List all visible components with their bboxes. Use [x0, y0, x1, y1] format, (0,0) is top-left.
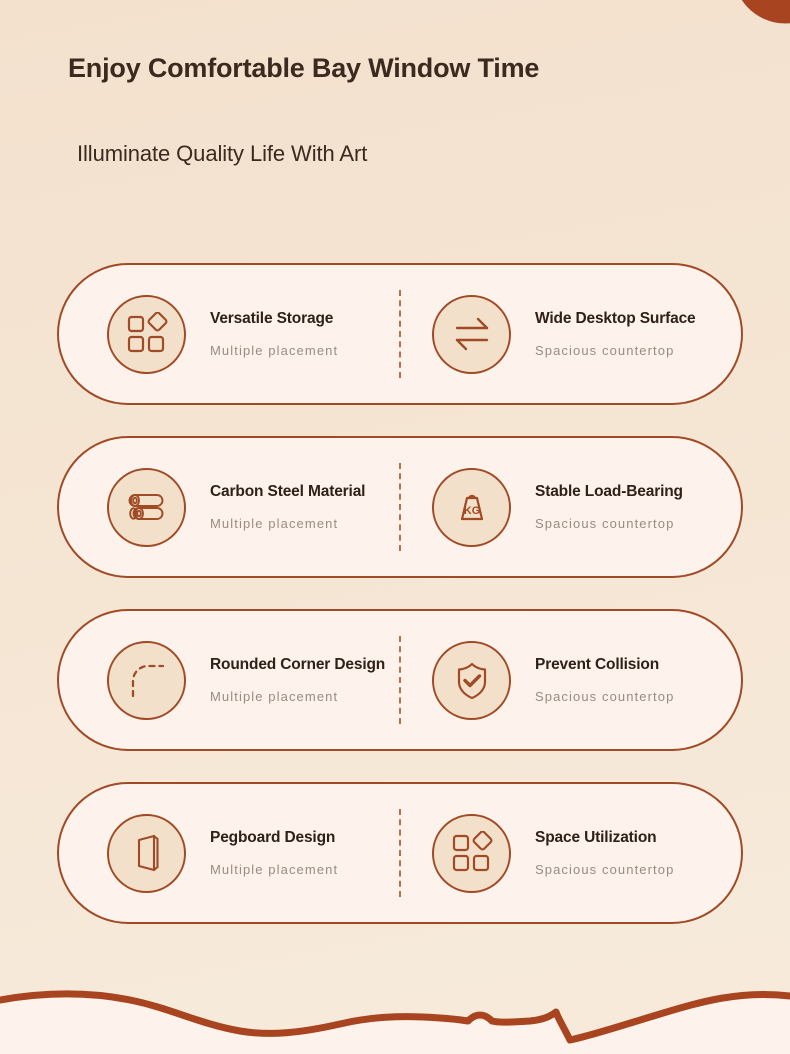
card-divider [399, 290, 401, 378]
heading-block: Enjoy Comfortable Bay Window Time Illumi… [68, 52, 539, 168]
feature-card[interactable]: Rounded Corner Design Multiple placement… [57, 609, 743, 751]
page-subtitle: Illuminate Quality Life With Art [77, 141, 539, 167]
feature-card[interactable]: Carbon Steel Material Multiple placement… [57, 436, 743, 578]
feature-text-block: Pegboard Design Multiple placement [210, 829, 338, 877]
page-title: Enjoy Comfortable Bay Window Time [68, 52, 539, 84]
feature-item[interactable]: Rounded Corner Design Multiple placement [59, 641, 416, 720]
feature-card[interactable]: Versatile Storage Multiple placement Wid… [57, 263, 743, 405]
feature-text-block: Space Utilization Spacious countertop [535, 829, 674, 877]
feature-card-list: Versatile Storage Multiple placement Wid… [57, 263, 743, 955]
feature-text-block: Prevent Collision Spacious countertop [535, 656, 674, 704]
feature-title: Pegboard Design [210, 829, 338, 848]
feature-card[interactable]: Pegboard Design Multiple placement Space… [57, 782, 743, 924]
kg-weight-icon: KG [432, 468, 511, 547]
feature-text-block: Versatile Storage Multiple placement [210, 310, 338, 358]
steel-rolls-icon [107, 468, 186, 547]
card-divider [399, 636, 401, 724]
feature-title: Carbon Steel Material [210, 483, 365, 502]
feature-subtitle: Multiple placement [210, 516, 365, 532]
card-divider [399, 809, 401, 897]
wave-brushstroke-divider [0, 944, 790, 1054]
feature-subtitle: Spacious countertop [535, 689, 674, 705]
feature-title: Wide Desktop Surface [535, 310, 696, 329]
squares-diamond-icon [432, 814, 511, 893]
feature-text-block: Carbon Steel Material Multiple placement [210, 483, 365, 531]
feature-subtitle: Spacious countertop [535, 343, 696, 359]
feature-title: Prevent Collision [535, 656, 674, 675]
feature-subtitle: Spacious countertop [535, 516, 683, 532]
feature-title: Stable Load-Bearing [535, 483, 683, 502]
feature-item[interactable]: Versatile Storage Multiple placement [59, 295, 416, 374]
card-divider [399, 463, 401, 551]
feature-item[interactable]: Wide Desktop Surface Spacious countertop [416, 295, 741, 374]
feature-text-block: Wide Desktop Surface Spacious countertop [535, 310, 696, 358]
rounded-corner-arc-icon [107, 641, 186, 720]
shield-check-icon [432, 641, 511, 720]
feature-subtitle: Multiple placement [210, 343, 338, 359]
feature-subtitle: Multiple placement [210, 689, 385, 705]
feature-item[interactable]: KG Stable Load-Bearing Spacious countert… [416, 468, 741, 547]
feature-item[interactable]: Space Utilization Spacious countertop [416, 814, 741, 893]
feature-item[interactable]: Carbon Steel Material Multiple placement [59, 468, 416, 547]
promo-page: Enjoy Comfortable Bay Window Time Illumi… [0, 0, 790, 1054]
corner-triangle-decoration [734, 0, 790, 32]
feature-title: Rounded Corner Design [210, 656, 385, 675]
feature-item[interactable]: Pegboard Design Multiple placement [59, 814, 416, 893]
pegboard-panel-icon [107, 814, 186, 893]
feature-text-block: Rounded Corner Design Multiple placement [210, 656, 385, 704]
feature-item[interactable]: Prevent Collision Spacious countertop [416, 641, 741, 720]
feature-title: Versatile Storage [210, 310, 338, 329]
feature-text-block: Stable Load-Bearing Spacious countertop [535, 483, 683, 531]
feature-subtitle: Spacious countertop [535, 862, 674, 878]
kg-weight-label: KG [463, 505, 480, 517]
feature-title: Space Utilization [535, 829, 674, 848]
two-way-arrows-icon [432, 295, 511, 374]
squares-diamond-icon [107, 295, 186, 374]
feature-subtitle: Multiple placement [210, 862, 338, 878]
